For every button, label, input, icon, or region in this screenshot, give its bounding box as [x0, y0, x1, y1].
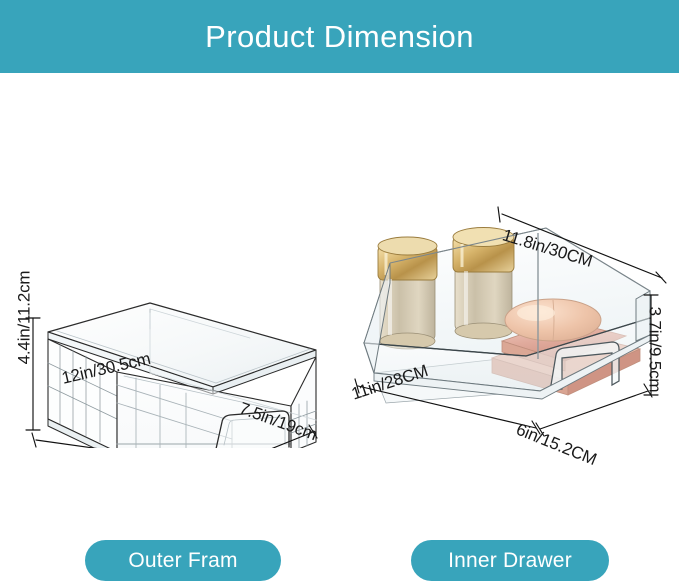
powder-puff-highlight [517, 305, 555, 321]
dimension-label-inner-height: 3.7in/9.5cm [647, 298, 664, 402]
pill-label-inner-drawer-text: Inner Drawer [448, 549, 572, 573]
header-banner: Product Dimension [0, 0, 679, 73]
pill-label-inner-drawer[interactable]: Inner Drawer [411, 540, 609, 581]
product-comparison-stage: 4.4in/11.2cm 12in/30.5cm 7.5in/19cm [0, 73, 679, 513]
jar-left-cap-top [378, 237, 437, 255]
product-panel-outer-frame: 4.4in/11.2cm 12in/30.5cm 7.5in/19cm [0, 73, 355, 448]
jar-right-base [455, 323, 512, 339]
pill-label-outer-frame-text: Outer Fram [128, 549, 237, 573]
inner-width-top-tick-right [656, 272, 666, 283]
pill-label-outer-frame[interactable]: Outer Fram [85, 540, 281, 581]
inner-depth-dim-line [540, 391, 648, 429]
width-tick-left [32, 433, 36, 447]
inner-drawer-illustration [350, 73, 679, 448]
page-title: Product Dimension [205, 21, 474, 52]
product-panel-inner-drawer: 11.8in/30CM 3.7in/9.5cm 11in/28CM 6in/15… [350, 73, 679, 448]
jar-right-glass [455, 265, 512, 331]
dimension-label-outer-height: 4.4in/11.2cm [16, 258, 33, 378]
outer-frame-illustration [0, 73, 355, 448]
inner-width-top-tick-left [498, 207, 500, 222]
powder-puff [505, 299, 601, 341]
